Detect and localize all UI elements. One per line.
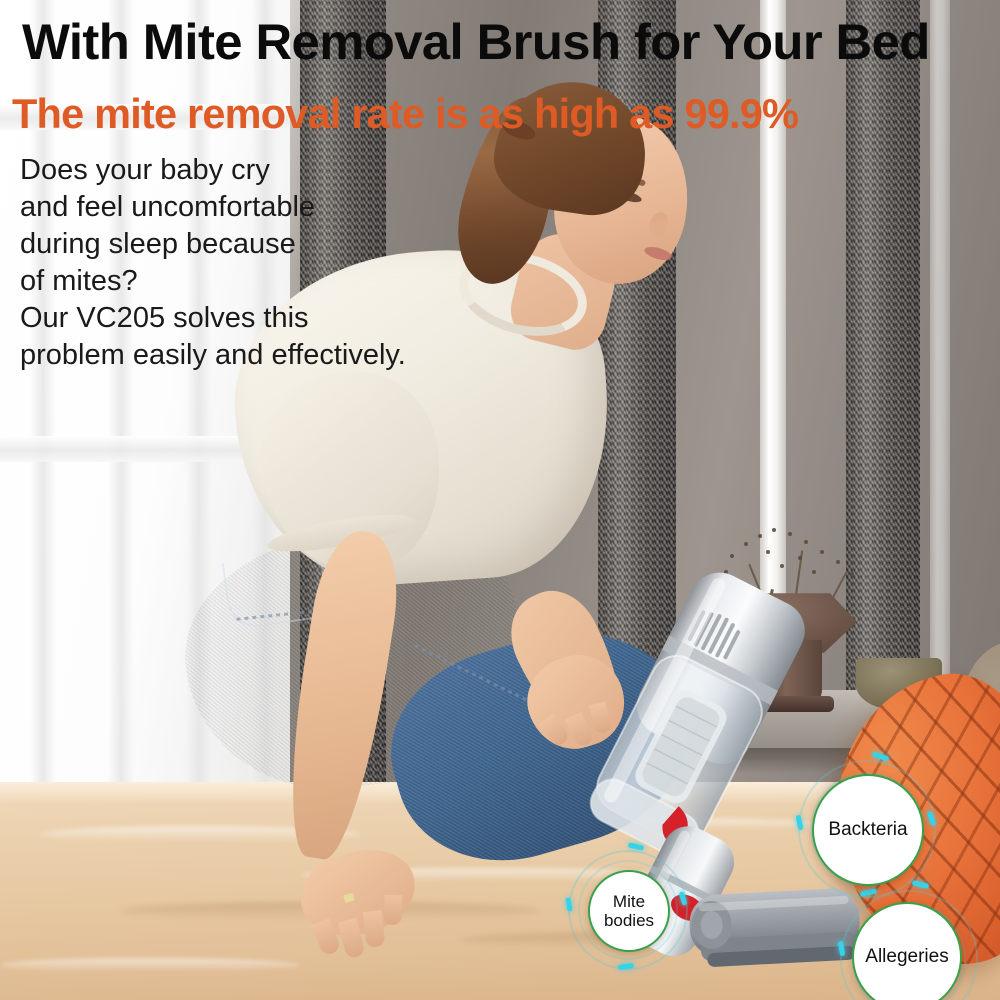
body-line-1: Does your baby cry bbox=[20, 152, 540, 189]
body-line-5: Our VC205 solves this bbox=[20, 300, 540, 337]
body-line-3: during sleep because bbox=[20, 226, 540, 263]
body-line-2: and feel uncomfortable bbox=[20, 189, 540, 226]
badge-allegeries-label: Allegeries bbox=[865, 946, 948, 967]
badge-mite-bodies[interactable]: Mite bodies bbox=[588, 870, 670, 952]
headline: With Mite Removal Brush for Your Bed bbox=[22, 14, 1000, 70]
body-line-6: problem easily and effectively. bbox=[20, 337, 540, 374]
body-copy: Does your baby cry and feel uncomfortabl… bbox=[20, 152, 540, 374]
ceramic-vase-foot bbox=[748, 696, 834, 712]
badge-backteria-label: Backteria bbox=[828, 819, 907, 840]
subheadline: The mite removal rate is as high as 99.9… bbox=[12, 90, 980, 138]
badge-mite-bodies-line2: bodies bbox=[604, 911, 654, 930]
badge-mite-bodies-line1: Mite bbox=[604, 892, 654, 911]
badge-backteria[interactable]: Backteria bbox=[812, 774, 924, 886]
body-line-4: of mites? bbox=[20, 263, 540, 300]
product-marketing-image: Mite bodies Backteria Allegeries With Mi… bbox=[0, 0, 1000, 1000]
